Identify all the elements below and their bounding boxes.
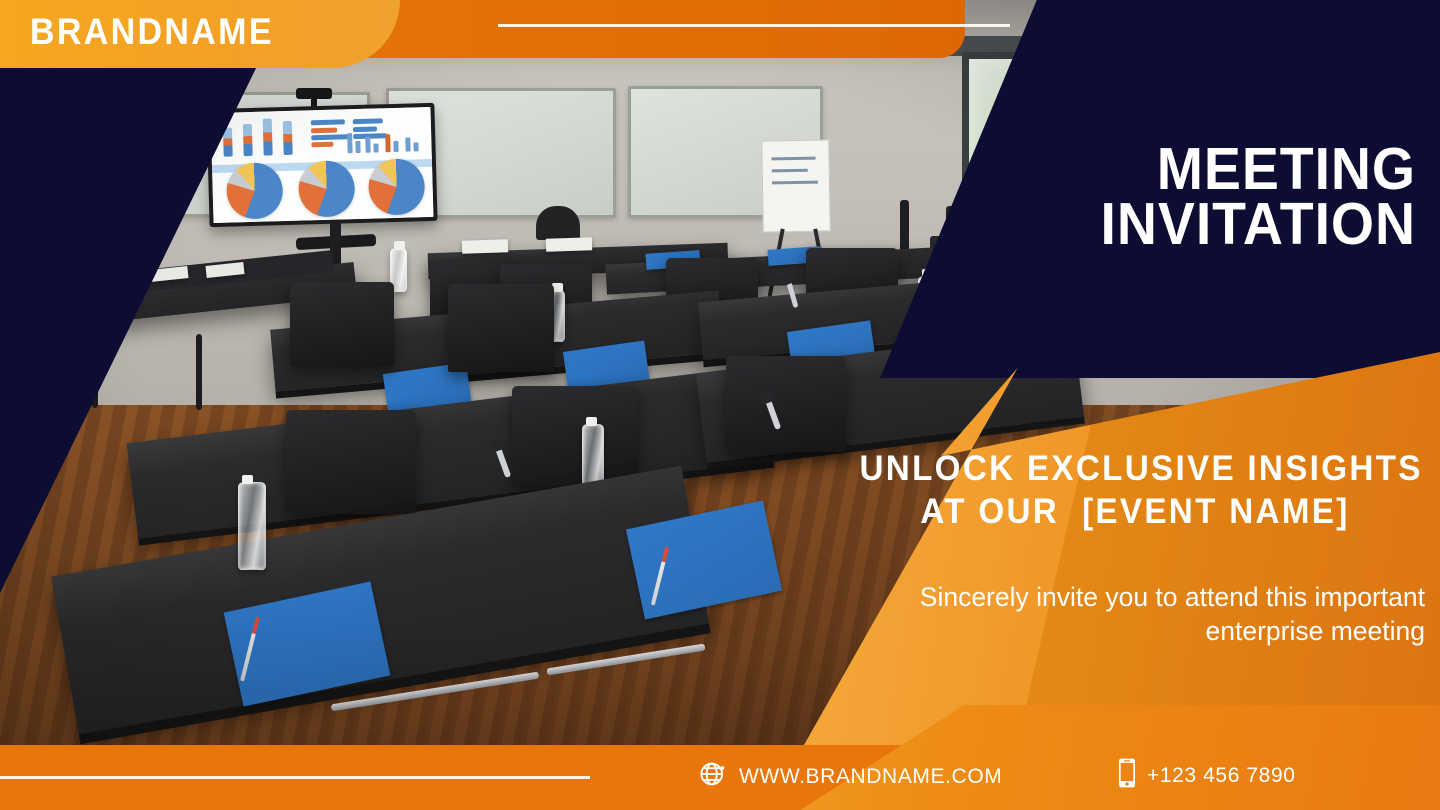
subtitle: Sincerely invite you to attend this impo… — [800, 580, 1425, 649]
website-contact[interactable]: WWW.BRANDNAME.COM — [698, 759, 1002, 794]
bottom-divider-rule — [0, 776, 590, 779]
title-line-2: INVITATION — [1012, 197, 1416, 252]
headline: UNLOCK EXCLUSIVE INSIGHTS AT OUR [EVENT … — [845, 448, 1425, 533]
phone-label: +123 456 7890 — [1147, 764, 1296, 788]
page-title: MEETING INVITATION — [986, 142, 1416, 252]
meeting-invitation-poster: BRANDNAME MEETING INVITATION UNLOCK EXCL… — [0, 0, 1440, 810]
brand-logo-text: BRANDNAME — [30, 11, 274, 53]
smartphone-icon — [1118, 757, 1136, 794]
website-label: WWW.BRANDNAME.COM — [739, 765, 1002, 789]
title-line-1: MEETING — [1012, 142, 1416, 197]
phone-contact[interactable]: +123 456 7890 — [1118, 757, 1296, 794]
headline-line-2: AT OUR [EVENT NAME] — [860, 491, 1411, 534]
top-divider-rule — [498, 24, 1010, 27]
subtitle-line-2: enterprise meeting — [800, 614, 1425, 648]
headline-line-1: UNLOCK EXCLUSIVE INSIGHTS — [860, 448, 1411, 491]
subtitle-line-1: Sincerely invite you to attend this impo… — [800, 580, 1425, 614]
globe-icon — [698, 759, 728, 794]
